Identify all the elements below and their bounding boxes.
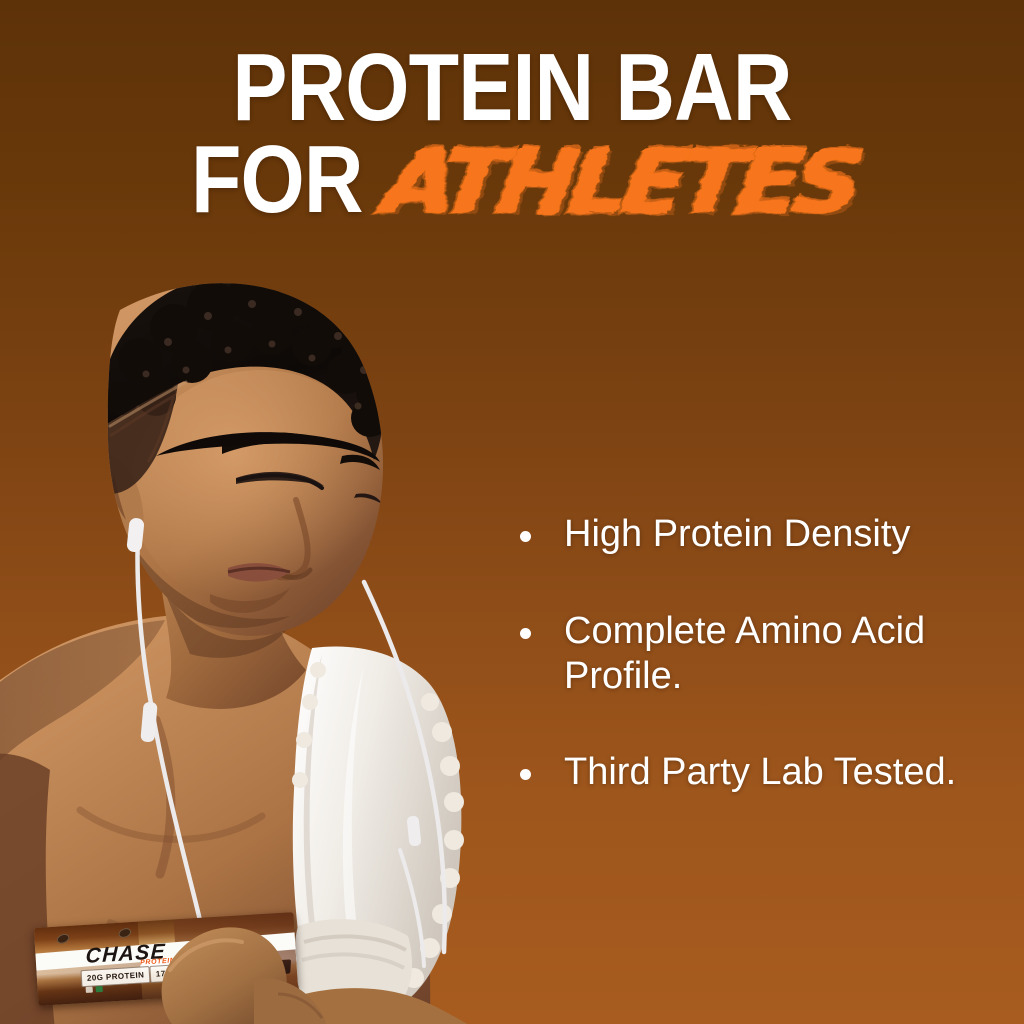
feature-bullet-list: High Protein Density Complete Amino Acid… [520,512,1020,795]
list-item: High Protein Density [520,512,1020,557]
product-protein-bar[interactable]: CHASE PROTEIN 20G PROTEIN 175 CAL TIRAMI… [34,912,298,1006]
headline-line-2: FOR ATHLETES [0,136,1024,224]
seal-mark-green [96,986,103,992]
list-item: Third Party Lab Tested. [520,750,1020,795]
certification-seals [86,986,103,993]
bullet-dot-icon [520,531,531,542]
bullet-dot-icon [520,628,531,639]
athlete-head [95,270,400,636]
advertisement-canvas: PROTEIN BAR FOR ATHLETES High Protein De… [0,0,1024,1024]
seal-mark [86,986,93,992]
bullet-text: Third Party Lab Tested. [564,750,1020,795]
headline-block: PROTEIN BAR FOR ATHLETES [0,44,1024,225]
headline-line-1: PROTEIN BAR [72,44,953,132]
headline-for-word: FOR [191,136,363,224]
list-item: Complete Amino Acid Profile. [520,609,1020,699]
athlete-photo [0,250,580,1024]
calorie-badge: 175 CAL [149,963,197,983]
bullet-dot-icon [520,769,531,780]
headline-athletes-word: ATHLETES [379,142,863,221]
bullet-text: Complete Amino Acid Profile. [564,609,1020,699]
bullet-text: High Protein Density [564,512,1020,557]
protein-bar-wrapper: CHASE PROTEIN 20G PROTEIN 175 CAL TIRAMI… [34,912,298,1006]
